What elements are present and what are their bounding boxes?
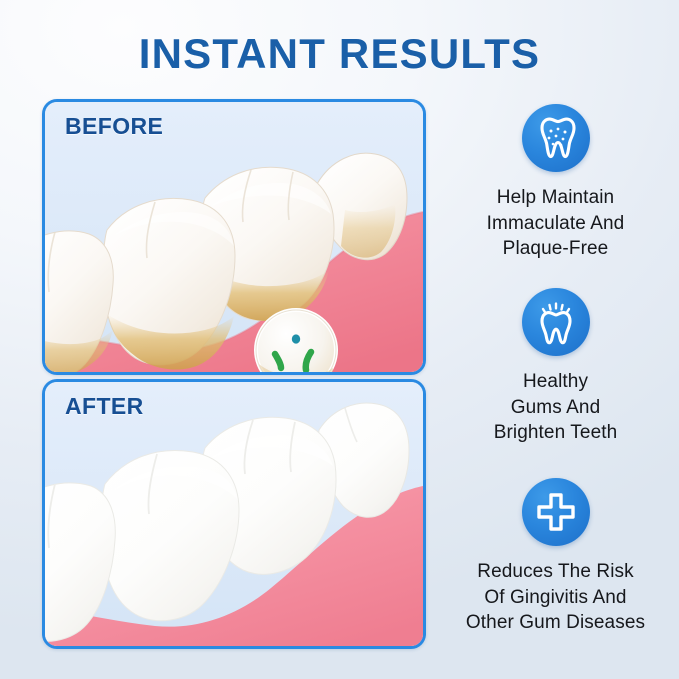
before-teeth-illustration xyxy=(45,102,423,372)
shining-tooth-icon xyxy=(522,288,590,356)
benefit-line: Healthy xyxy=(432,369,679,395)
benefit-line: Other Gum Diseases xyxy=(432,610,679,636)
benefit-item-plaque-free: Help Maintain Immaculate And Plaque-Free xyxy=(432,104,679,262)
after-panel: AFTER xyxy=(42,379,426,649)
benefit-text: Help Maintain Immaculate And Plaque-Free xyxy=(432,185,679,262)
benefit-line: Of Gingivitis And xyxy=(432,585,679,611)
page-title: INSTANT RESULTS xyxy=(0,30,679,78)
benefit-line: Brighten Teeth xyxy=(432,420,679,446)
benefit-line: Immaculate And xyxy=(432,211,679,237)
before-label: BEFORE xyxy=(65,113,163,140)
instant-results-infographic: INSTANT RESULTS xyxy=(0,0,679,679)
benefit-line: Reduces The Risk xyxy=(432,559,679,585)
benefits-list: Help Maintain Immaculate And Plaque-Free xyxy=(432,100,679,660)
medical-plus-icon xyxy=(522,478,590,546)
before-panel: BEFORE xyxy=(42,99,426,375)
benefit-line: Plaque-Free xyxy=(432,236,679,262)
benefit-line: Help Maintain xyxy=(432,185,679,211)
tooth-plaque-icon xyxy=(522,104,590,172)
benefit-text: Reduces The Risk Of Gingivitis And Other… xyxy=(432,559,679,636)
benefit-item-gingivitis: Reduces The Risk Of Gingivitis And Other… xyxy=(432,478,679,636)
after-label: AFTER xyxy=(65,393,144,420)
benefit-line: Gums And xyxy=(432,395,679,421)
after-teeth-illustration xyxy=(45,382,423,646)
benefit-text: Healthy Gums And Brighten Teeth xyxy=(432,369,679,446)
benefit-item-healthy-gums: Healthy Gums And Brighten Teeth xyxy=(432,288,679,446)
